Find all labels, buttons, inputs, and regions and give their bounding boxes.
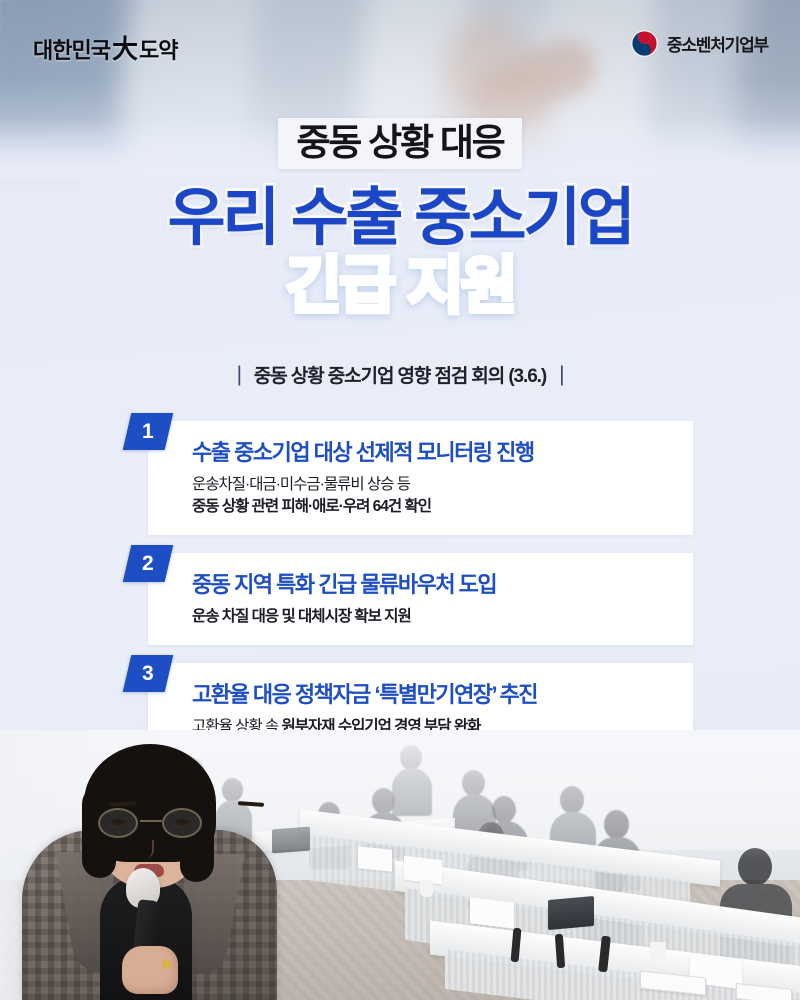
- subtitle-row: | 중동 상황 중소기업 영향 점검 회의 (3.6.) |: [0, 361, 800, 388]
- kicker-row: 중동 상황 대응: [0, 118, 800, 169]
- speaker-eye-right: [176, 819, 189, 825]
- card-number: 3: [142, 663, 154, 684]
- card-number: 1: [142, 421, 154, 442]
- paper-cup: [420, 880, 433, 897]
- glasses-bridge: [140, 820, 162, 822]
- card-number-badge: 3: [123, 655, 174, 692]
- card-number: 2: [142, 553, 154, 574]
- kicker-text: 중동 상황 대응: [278, 118, 521, 169]
- poster-root: 대한민국大도약 중소벤처기업부 중동 상황 대응 우리 수출 중소기업 긴급 지…: [0, 0, 800, 1000]
- card-subtext-line-2: 운송 차질 대응 및 대체시장 확보 지원: [192, 606, 673, 628]
- main-title-block: 우리 수출 중소기업 긴급 지원: [0, 185, 800, 319]
- bottom-meeting-photo: [0, 730, 800, 1000]
- card-number-badge: 1: [123, 413, 174, 450]
- government-slogan-logo: 대한민국大도약: [33, 29, 177, 66]
- speaker-eye-left: [112, 819, 125, 825]
- speaker-eyebrow-right: [238, 801, 264, 807]
- paper-cup: [650, 942, 666, 963]
- laptop: [548, 896, 594, 930]
- taegeuk-icon: [631, 30, 658, 57]
- slogan-post: 도약: [139, 38, 177, 63]
- card-heading: 고환율 대응 정책자금 ‘특별만기연장’ 추진: [192, 681, 673, 709]
- card-number-badge: 2: [123, 545, 174, 582]
- card-subtext: 운송 차질 대응 및 대체시장 확보 지원: [192, 606, 673, 628]
- subtitle-group: | 중동 상황 중소기업 영향 점검 회의 (3.6.) |: [237, 361, 564, 388]
- ministry-logo: 중소벤처기업부: [631, 30, 768, 57]
- speaker-hand: [122, 946, 178, 994]
- subtitle-bar-left: |: [237, 363, 241, 387]
- ministry-name-label: 중소벤처기업부: [667, 31, 768, 56]
- measure-card[interactable]: 2 중동 지역 특화 긴급 물류바우처 도입 운송 차질 대응 및 대체시장 확…: [148, 553, 693, 645]
- speaker-glasses-icon: [96, 808, 206, 838]
- card-subtext-line-2: 중동 상황 관련 피해·애로·우려 64건 확인: [192, 496, 673, 518]
- foreground-speaker: [22, 732, 282, 1000]
- card-subtext: 운송차질·대금·미수금·물류비 상승 등 중동 상황 관련 피해·애로·우려 6…: [192, 474, 673, 519]
- slogan-pre: 대한민국: [33, 38, 110, 63]
- title-line-2: 긴급 지원: [0, 254, 800, 320]
- speaker-ring: [162, 960, 171, 969]
- subtitle-text: 중동 상황 중소기업 영향 점검 회의 (3.6.): [254, 361, 546, 388]
- slogan-hanja: 大: [110, 34, 139, 64]
- title-line-1: 우리 수출 중소기업: [0, 185, 800, 252]
- card-heading: 중동 지역 특화 긴급 물류바우처 도입: [192, 571, 673, 599]
- document-paper: [470, 897, 514, 928]
- measure-card[interactable]: 1 수출 중소기업 대상 선제적 모니터링 진행 운송차질·대금·미수금·물류비…: [148, 421, 693, 535]
- subtitle-bar-right: |: [559, 363, 563, 387]
- card-subtext-line-1: 운송차질·대금·미수금·물류비 상승 등: [192, 474, 673, 496]
- measure-card-list: 1 수출 중소기업 대상 선제적 모니터링 진행 운송차질·대금·미수금·물류비…: [148, 421, 693, 755]
- card-heading: 수출 중소기업 대상 선제적 모니터링 진행: [192, 439, 673, 467]
